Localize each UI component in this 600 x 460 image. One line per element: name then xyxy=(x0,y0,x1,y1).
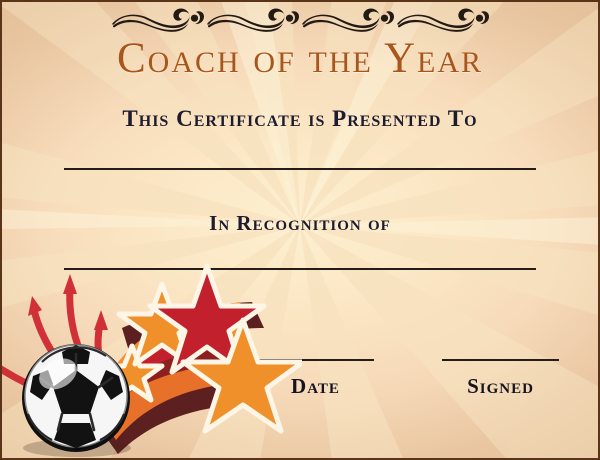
signed-signature-line[interactable] xyxy=(442,359,559,361)
signed-label: Signed xyxy=(442,374,559,399)
certificate-canvas: Coach of the Year This Certificate is Pr… xyxy=(0,0,600,460)
certificate-title: Coach of the Year xyxy=(2,34,598,83)
in-recognition-of-label: In Recognition of xyxy=(2,211,598,236)
recipient-name-line[interactable] xyxy=(64,168,536,170)
soccer-artwork xyxy=(2,258,302,458)
presented-to-label: This Certificate is Presented To xyxy=(2,106,598,132)
